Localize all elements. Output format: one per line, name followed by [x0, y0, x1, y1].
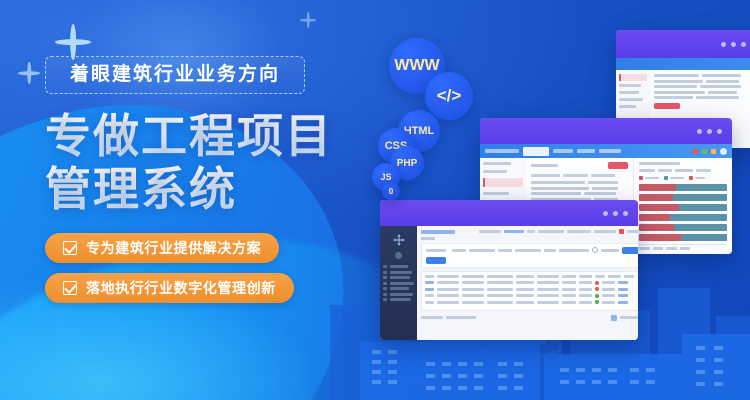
column-header	[516, 275, 534, 278]
column-header	[579, 275, 592, 278]
table-row[interactable]	[531, 181, 628, 184]
panel-title	[531, 164, 558, 167]
breadcrumb-sub	[421, 237, 435, 240]
primary-action-button[interactable]	[654, 103, 680, 109]
toolbar-item[interactable]	[479, 230, 501, 233]
column-header	[462, 275, 484, 278]
column-header	[425, 275, 434, 278]
sidebar-item[interactable]	[383, 276, 414, 279]
content-area	[417, 226, 638, 340]
search-icon[interactable]	[592, 247, 598, 253]
status-badge	[711, 149, 716, 154]
table-row	[654, 91, 750, 94]
user-menu[interactable]	[627, 230, 638, 233]
table-row	[654, 74, 750, 77]
filter-label	[426, 249, 446, 252]
sidebar-item[interactable]	[619, 98, 643, 101]
window-titlebar	[616, 30, 750, 58]
window-dot-icon	[697, 129, 702, 134]
column-header	[537, 275, 559, 278]
toolbar-item[interactable]	[567, 230, 591, 233]
legend-item	[689, 176, 705, 180]
chart-bar	[639, 214, 727, 221]
search-button[interactable]	[622, 247, 638, 254]
top-toolbar	[421, 229, 638, 234]
sidebar-item[interactable]	[383, 282, 414, 285]
filter-label	[544, 249, 556, 252]
feature-pill-label: 落地执行行业数字化管理创新	[86, 278, 276, 298]
table-row[interactable]	[531, 187, 628, 190]
tab-item[interactable]	[577, 149, 595, 153]
chart-panel	[633, 158, 732, 254]
window-dot-icon	[613, 211, 618, 216]
filter-select[interactable]	[515, 249, 541, 252]
status-badge	[595, 300, 599, 304]
banner-copy: 着眼建筑行业业务方向 专做工程项目 管理系统 专为建筑行业提供解决方案 落地执行…	[45, 56, 345, 313]
column-header	[624, 275, 634, 278]
sidebar-item[interactable]	[483, 170, 507, 173]
column-header	[563, 174, 588, 177]
column-header	[608, 275, 621, 278]
status-badge	[595, 294, 599, 298]
sidebar-item[interactable]	[619, 105, 636, 108]
filter-select[interactable]	[469, 249, 495, 252]
chart-bar	[639, 234, 727, 241]
sparkle-icon	[18, 62, 40, 84]
app-logo	[485, 149, 519, 153]
feature-pill[interactable]: 落地执行行业数字化管理创新	[45, 273, 294, 303]
legend-item	[639, 176, 659, 180]
feature-pill-label: 专为建筑行业提供解决方案	[86, 238, 261, 258]
sidebar-item[interactable]	[619, 91, 639, 94]
headline-line-1: 专做工程项目	[45, 110, 345, 163]
table-row	[654, 85, 750, 88]
breadcrumb	[421, 230, 455, 234]
app-navbar	[480, 144, 732, 158]
bubble-zero: 0	[382, 182, 400, 200]
sidebar-item[interactable]	[383, 293, 414, 296]
toolbar-item[interactable]	[594, 230, 616, 233]
table-row[interactable]	[425, 287, 638, 291]
table-row[interactable]	[425, 300, 638, 304]
check-box-icon	[63, 281, 77, 295]
sidebar-item[interactable]	[383, 298, 414, 301]
chart-title	[639, 162, 679, 165]
filter-panel	[421, 243, 638, 268]
sidebar	[380, 226, 417, 340]
status-badge	[702, 149, 707, 154]
sidebar-item-active[interactable]	[619, 74, 647, 81]
status-badge	[693, 149, 698, 154]
legend-item	[664, 176, 684, 180]
add-button[interactable]	[426, 257, 446, 264]
window-titlebar	[480, 118, 732, 144]
window-body	[380, 226, 638, 340]
chart-bar	[639, 184, 727, 191]
primary-action-button[interactable]	[608, 162, 628, 169]
chart-legend	[639, 176, 727, 180]
window-dot-icon	[741, 42, 746, 47]
dashboard-front[interactable]	[380, 200, 638, 340]
selection-count	[421, 316, 443, 319]
notification-badge[interactable]	[619, 229, 624, 234]
data-table	[421, 271, 638, 311]
sidebar-item[interactable]	[619, 84, 641, 87]
sidebar-item[interactable]	[483, 162, 511, 165]
table-row	[654, 80, 750, 83]
window-dot-icon	[707, 129, 712, 134]
column-header	[562, 275, 576, 278]
status-badge	[595, 281, 599, 285]
pagination-bar	[421, 315, 638, 321]
avatar[interactable]	[395, 252, 402, 259]
avatar[interactable]	[720, 148, 727, 155]
toolbar-item-active[interactable]	[504, 230, 524, 233]
tab-item[interactable]	[599, 149, 621, 153]
bubble-code: </>	[425, 72, 473, 120]
sparkle-icon	[55, 24, 91, 60]
window-dot-icon	[717, 129, 722, 134]
eyebrow-tagline: 着眼建筑行业业务方向	[45, 56, 305, 94]
page-title: 专做工程项目 管理系统	[45, 110, 345, 217]
bulk-action[interactable]	[446, 316, 476, 319]
row-action[interactable]	[618, 281, 628, 284]
sidebar-item-active[interactable]	[483, 178, 523, 187]
table-row	[654, 96, 750, 99]
filter-label	[452, 249, 466, 252]
sidebar-item[interactable]	[483, 192, 509, 195]
status-badge	[595, 287, 599, 291]
tab-item[interactable]	[553, 149, 573, 153]
chart-bar	[639, 194, 727, 201]
feature-pill[interactable]: 专为建筑行业提供解决方案	[45, 233, 279, 263]
column-header	[591, 174, 614, 177]
sidebar-item[interactable]	[383, 287, 414, 290]
headline-line-2: 管理系统	[45, 163, 345, 216]
window-dot-icon	[721, 42, 726, 47]
page-number[interactable]	[611, 315, 617, 321]
window-dot-icon	[731, 42, 736, 47]
page-size-select[interactable]	[620, 316, 638, 319]
filter-label	[498, 249, 512, 252]
app-logo-icon	[392, 233, 406, 247]
row-action[interactable]	[618, 301, 628, 304]
column-header	[531, 174, 560, 177]
column-header	[437, 275, 459, 278]
chart-bar	[639, 204, 727, 211]
tab-active[interactable]	[523, 147, 549, 156]
filter-input[interactable]	[559, 249, 589, 252]
promo-banner: 着眼建筑行业业务方向 专做工程项目 管理系统 专为建筑行业提供解决方案 落地执行…	[0, 0, 750, 400]
sidebar-item[interactable]	[383, 271, 414, 274]
feature-pill-list: 专为建筑行业提供解决方案 落地执行行业数字化管理创新	[45, 233, 345, 303]
check-box-icon	[63, 241, 77, 255]
row-action[interactable]	[618, 288, 628, 291]
table-row[interactable]	[531, 192, 628, 195]
toolbar-item[interactable]	[538, 230, 564, 233]
filter-label	[601, 249, 619, 252]
table-row[interactable]	[425, 281, 638, 285]
app-navbar	[616, 58, 750, 70]
sidebar-item[interactable]	[383, 265, 414, 268]
window-dot-icon	[603, 211, 608, 216]
chart-bar	[639, 224, 727, 231]
window-dot-icon	[623, 211, 628, 216]
chevron-down-icon[interactable]	[527, 230, 535, 233]
sparkle-icon	[300, 12, 316, 28]
column-header	[595, 275, 605, 278]
column-header	[487, 275, 513, 278]
table-row[interactable]	[425, 294, 638, 298]
table-header-row	[425, 275, 638, 278]
row-action[interactable]	[618, 294, 628, 297]
window-titlebar	[380, 200, 638, 226]
